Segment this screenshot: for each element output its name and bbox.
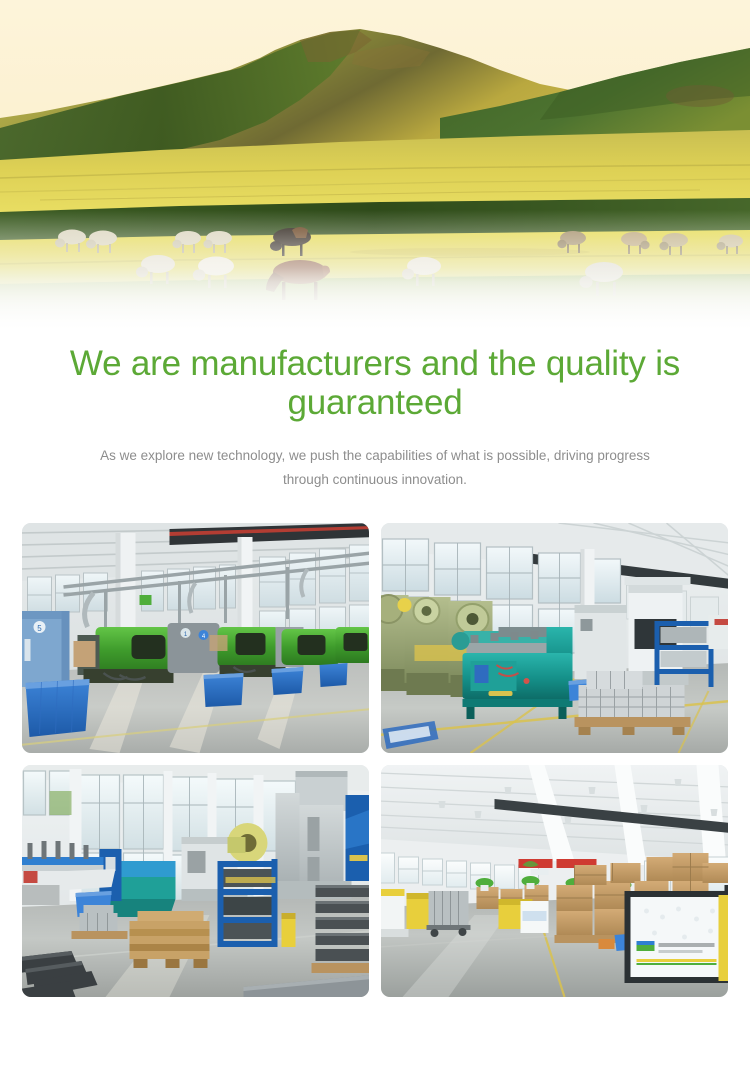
page-title: We are manufacturers and the quality is … xyxy=(40,344,710,422)
injection-molding-workshop: 5 1 4 xyxy=(22,523,369,753)
hero-banner xyxy=(0,0,750,330)
gallery-photo-assembly-and-pallet-area[interactable] xyxy=(22,765,369,997)
factory-photo-gallery: 5 1 4 xyxy=(22,523,728,997)
svg-text:5: 5 xyxy=(37,624,42,633)
grassland-pasture-banner xyxy=(0,0,750,330)
gallery-photo-injection-molding-workshop[interactable]: 5 1 4 xyxy=(22,523,369,753)
warehouse-packing-area xyxy=(381,765,728,997)
gallery-photo-stamping-press-workshop[interactable] xyxy=(381,523,728,753)
page-subtitle: As we explore new technology, we push th… xyxy=(85,444,665,490)
stamping-press-workshop xyxy=(381,523,728,753)
intro-section: We are manufacturers and the quality is … xyxy=(0,344,750,491)
gallery-photo-warehouse-packing-area[interactable] xyxy=(381,765,728,997)
atmospheric-haze xyxy=(0,268,750,330)
assembly-and-pallet-area xyxy=(22,765,369,997)
hill-rock-right xyxy=(666,85,734,107)
gold-field-patch xyxy=(350,248,590,256)
